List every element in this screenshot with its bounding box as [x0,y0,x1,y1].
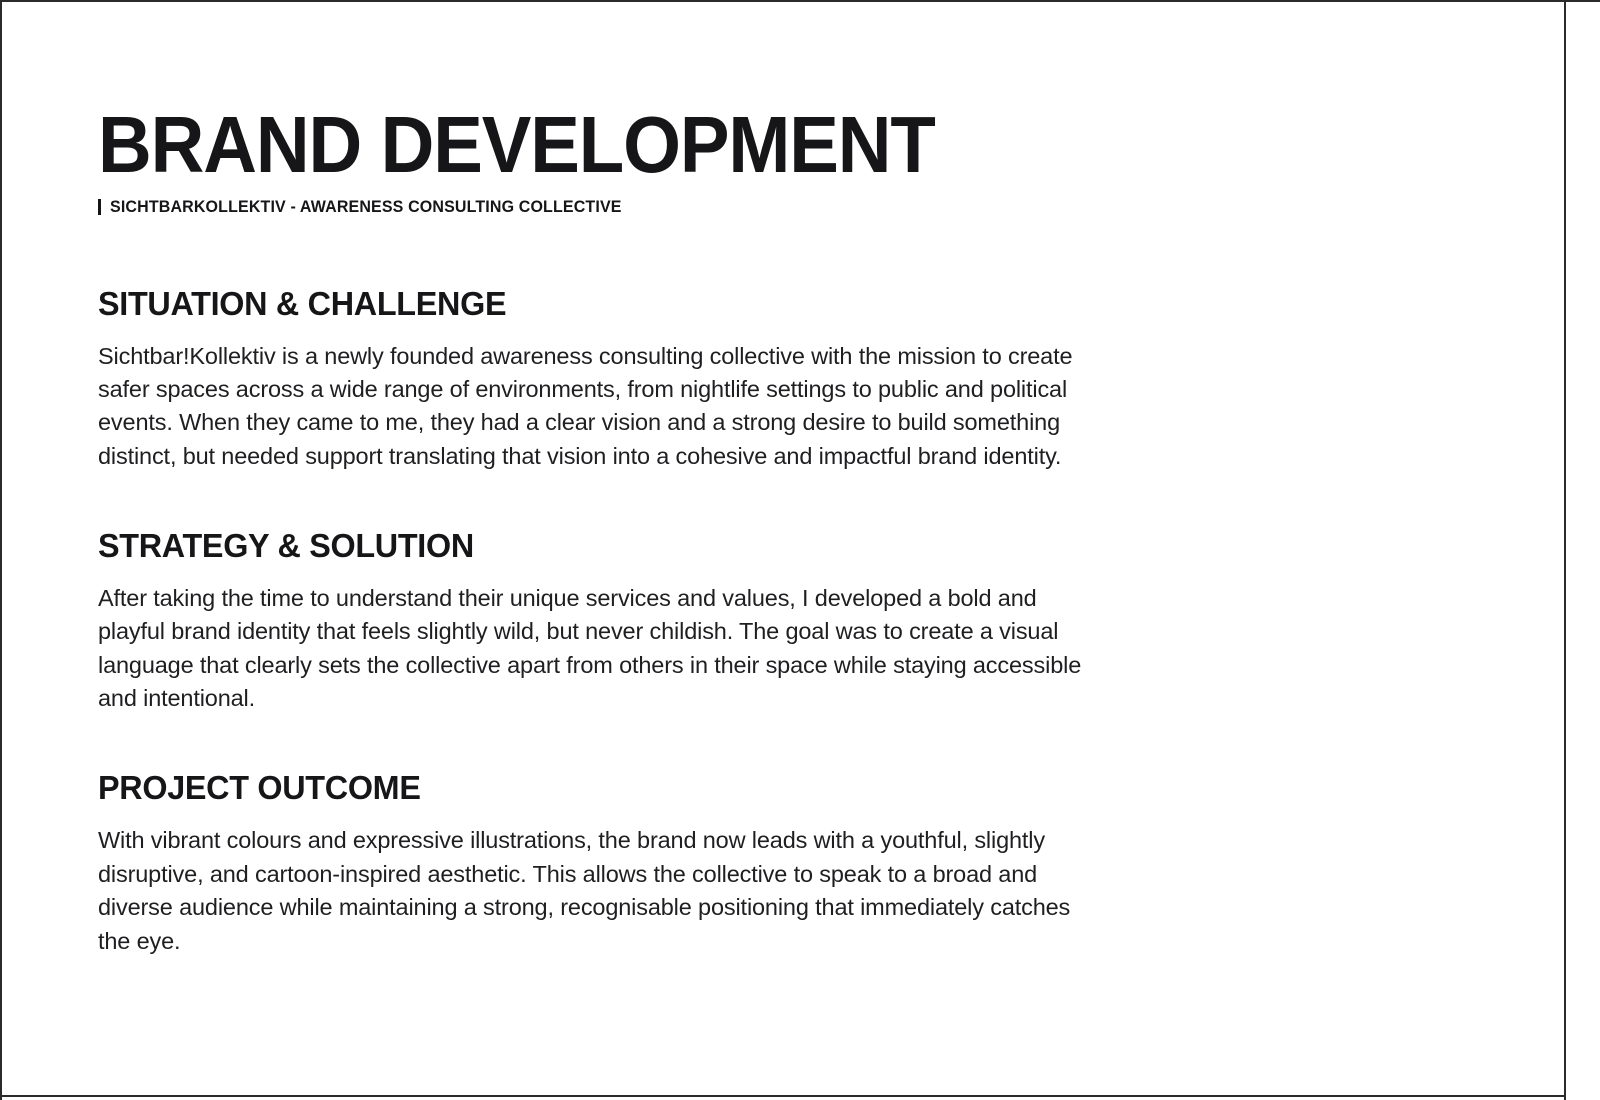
content-column: BRAND DEVELOPMENT SICHTBARKOLLEKTIV - AW… [98,108,1198,958]
page-subtitle: SICHTBARKOLLEKTIV - AWARENESS CONSULTING… [110,198,622,217]
section-body-situation-challenge: Sichtbar!Kollektiv is a newly founded aw… [98,340,1073,473]
section-project-outcome: PROJECT OUTCOME With vibrant colours and… [98,771,1198,957]
section-heading-strategy-solution: STRATEGY & SOLUTION [98,529,1176,562]
section-strategy-solution: STRATEGY & SOLUTION After taking the tim… [98,529,1198,715]
page-title: BRAND DEVELOPMENT [98,108,1121,182]
section-heading-project-outcome: PROJECT OUTCOME [98,771,1176,804]
frame-border-top [0,0,1600,2]
case-study-slide: BRAND DEVELOPMENT SICHTBARKOLLEKTIV - AW… [0,0,1600,1100]
frame-border-left [0,0,2,1100]
masthead: BRAND DEVELOPMENT SICHTBARKOLLEKTIV - AW… [98,108,1198,217]
frame-border-right [1564,0,1566,1100]
frame-border-bottom [0,1095,1566,1097]
section-body-strategy-solution: After taking the time to understand thei… [98,582,1083,715]
section-heading-situation-challenge: SITUATION & CHALLENGE [98,287,1176,320]
section-situation-challenge: SITUATION & CHALLENGE Sichtbar!Kollektiv… [98,287,1198,473]
section-body-project-outcome: With vibrant colours and expressive illu… [98,824,1083,957]
vertical-bar-icon [98,199,101,215]
subtitle-row: SICHTBARKOLLEKTIV - AWARENESS CONSULTING… [98,198,1198,217]
